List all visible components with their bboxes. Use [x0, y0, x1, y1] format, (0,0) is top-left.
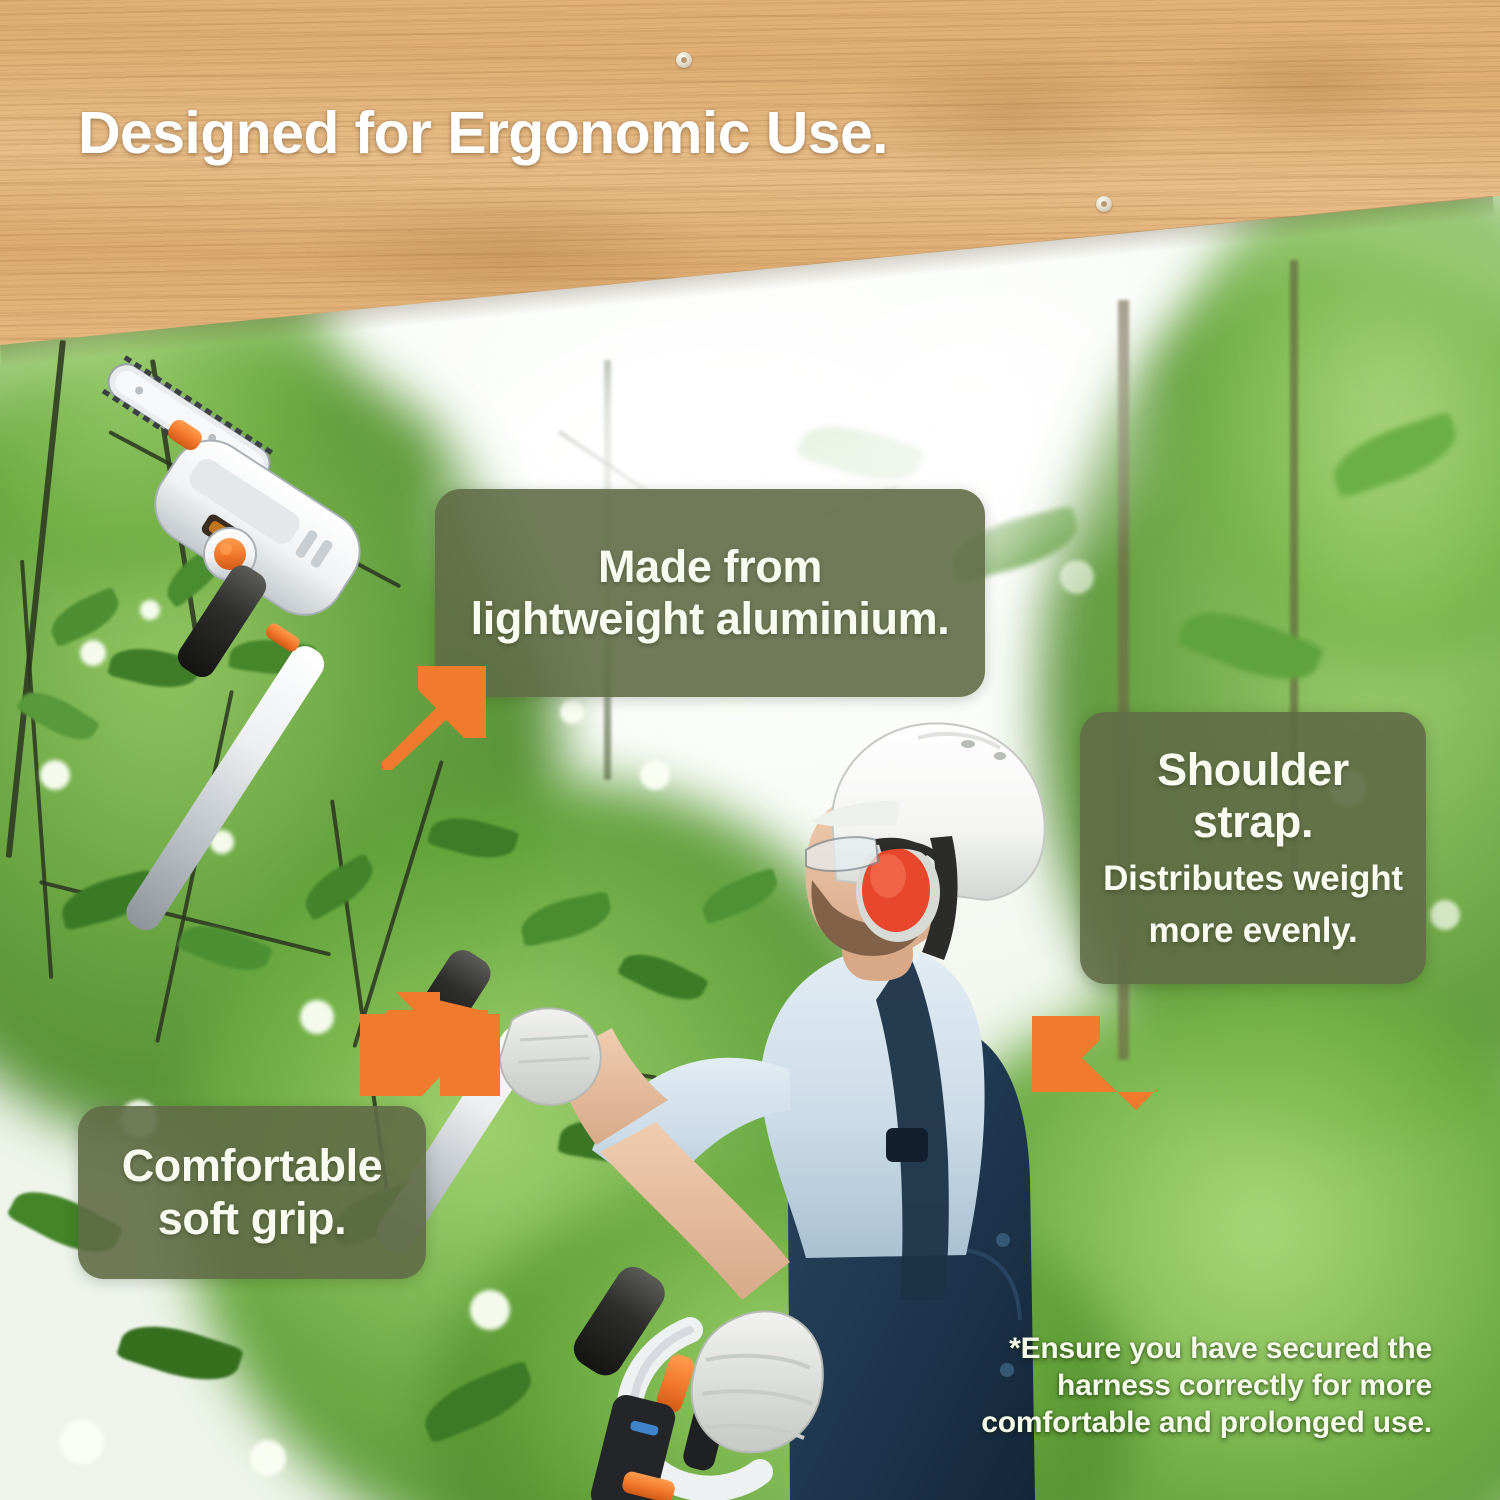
infographic-root: Designed for Ergonomic Use. Made from li…: [0, 0, 1500, 1500]
polo-shirt: [760, 948, 985, 1258]
hard-hat-brim: [812, 801, 900, 826]
overall-button: [996, 1233, 1010, 1247]
wood-screw-icon: [1096, 196, 1112, 212]
strap-buckle: [886, 1128, 928, 1162]
callout-grip-line2: soft grip.: [158, 1193, 346, 1245]
arrow-up-left-icon: [360, 1000, 500, 1110]
arrow-down-left-icon: [1032, 1000, 1158, 1092]
footnote-line-2: harness correctly for more: [962, 1367, 1432, 1404]
footnote-line-3: comfortable and prolonged use.: [962, 1404, 1432, 1441]
callout-aluminium[interactable]: Made from lightweight aluminium.: [435, 489, 985, 697]
callout-shoulder-strap[interactable]: Shoulder strap. Distributes weight more …: [1080, 712, 1426, 984]
callout-strap-line2: strap.: [1193, 796, 1313, 848]
footnote-disclaimer: *Ensure you have secured the harness cor…: [962, 1330, 1432, 1442]
callout-strap-line1: Shoulder: [1157, 744, 1349, 796]
glove-upper: [500, 1008, 601, 1105]
footnote-line-1: *Ensure you have secured the: [962, 1330, 1432, 1367]
callout-soft-grip[interactable]: Comfortable soft grip.: [78, 1106, 426, 1279]
arrow-down-left-icon: [382, 666, 494, 770]
wood-knot: [860, 40, 1160, 190]
callout-strap-sub-line2: more evenly.: [1148, 910, 1357, 952]
callout-aluminium-line1: Made from: [598, 541, 822, 593]
wood-screw-icon: [676, 52, 692, 68]
wood-knot: [1180, 30, 1440, 140]
callout-strap-sub-line1: Distributes weight: [1103, 858, 1403, 900]
callout-grip-line1: Comfortable: [122, 1140, 383, 1192]
page-title: Designed for Ergonomic Use.: [78, 104, 888, 163]
callout-aluminium-line2: lightweight aluminium.: [471, 593, 950, 645]
